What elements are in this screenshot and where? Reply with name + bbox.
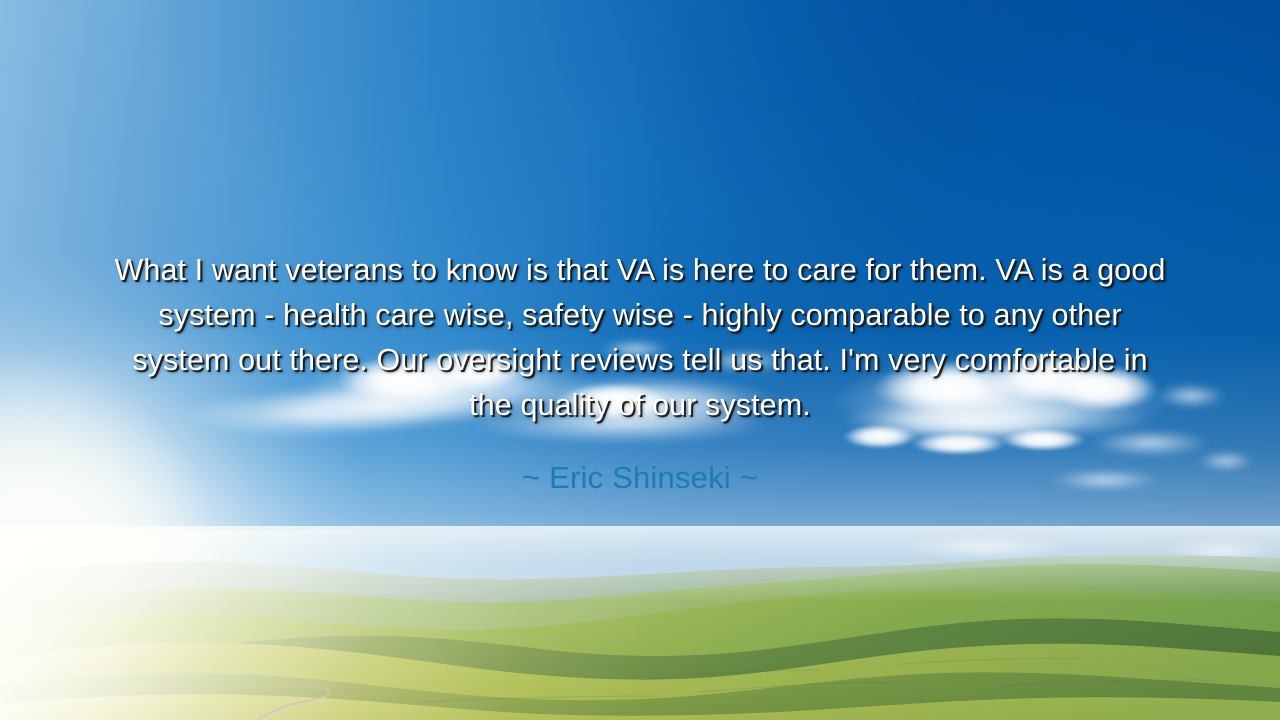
quote-attribution: ~ Eric Shinseki ~ [0,428,1280,498]
quote-image-canvas: What I want veterans to know is that VA … [0,0,1280,720]
hills-illustration [0,530,1280,720]
quote-block: What I want veterans to know is that VA … [0,248,1280,498]
quote-text: What I want veterans to know is that VA … [110,248,1170,428]
rolling-hills-landscape [0,530,1280,720]
